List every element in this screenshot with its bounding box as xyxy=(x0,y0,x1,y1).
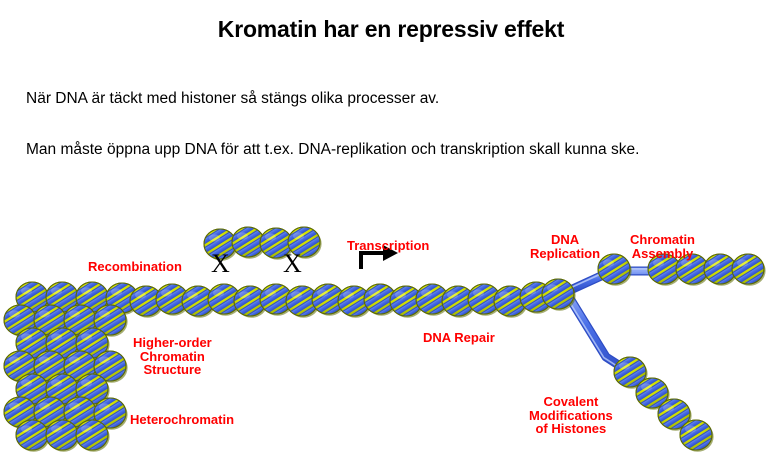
xmark-right-icon: X xyxy=(283,251,302,277)
page-title: Kromatin har en repressiv effekt xyxy=(0,16,782,43)
body-text-line-1: När DNA är täckt med histoner så stängs … xyxy=(26,90,439,108)
main-chromatin-fiber xyxy=(122,272,583,324)
lower-replication-arm xyxy=(606,350,721,458)
heterochromatin-cluster xyxy=(0,275,147,458)
label-dna-replication: DNA Replication xyxy=(530,233,600,260)
label-transcription: Transcription xyxy=(347,239,429,253)
label-covalent-modifications-of-histones: Covalent Modifications of Histones xyxy=(529,395,613,436)
label-higher-order-chromatin-structure: Higher-order Chromatin Structure xyxy=(133,336,212,377)
xmark-left-icon: X xyxy=(211,251,230,277)
chromatin-diagram: Recombination Transcription DNA Replicat… xyxy=(0,205,782,460)
label-heterochromatin: Heterochromatin xyxy=(130,413,234,427)
body-text-line-2: Man måste öppna upp DNA för att t.ex. DN… xyxy=(26,141,639,159)
label-recombination: Recombination xyxy=(88,260,182,274)
label-chromatin-assembly: Chromatin Assembly xyxy=(630,233,695,260)
label-dna-repair: DNA Repair xyxy=(423,331,495,345)
slide-canvas: Kromatin har en repressiv effekt När DNA… xyxy=(0,0,782,460)
